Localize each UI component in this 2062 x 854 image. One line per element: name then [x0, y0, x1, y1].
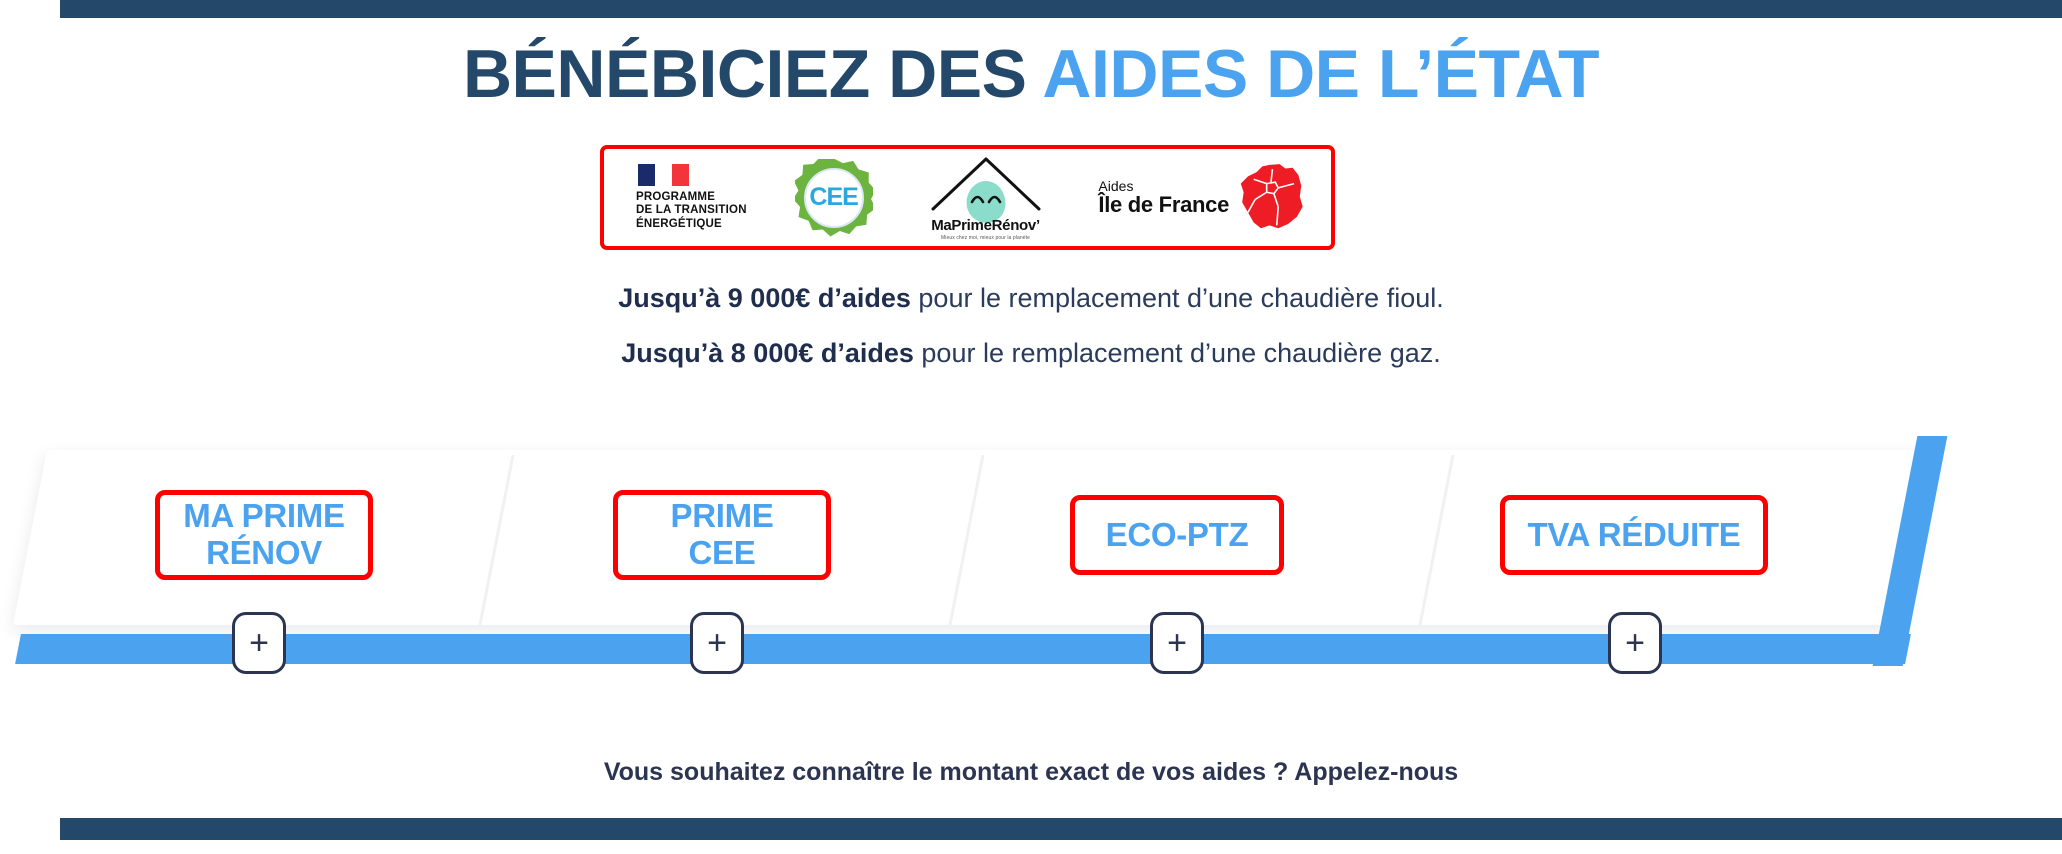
aid-card-tva-reduite[interactable]: TVA RÉDUITE — [1500, 495, 1768, 575]
plus-icon: + — [1625, 626, 1645, 660]
logo-idf-big: Île de France — [1098, 193, 1229, 216]
logo-maprimerenov-label: MaPrimeRénov’ — [931, 217, 1040, 234]
plus-icon: + — [1167, 626, 1187, 660]
expand-prime-cee-button[interactable]: + — [690, 612, 744, 674]
french-flag-icon — [638, 164, 689, 186]
aid-amount-2-bold: Jusqu’à 8 000€ d’aides — [621, 338, 914, 368]
aid-card-ma-prime-renov[interactable]: MA PRIME RÉNOV — [155, 490, 373, 580]
aid-card-3-line1: ECO-PTZ — [1106, 516, 1249, 553]
logo-cee-label: CEE — [809, 183, 857, 212]
expand-ma-prime-renov-button[interactable]: + — [232, 612, 286, 674]
logo-pte-line3: ÉNERGÉTIQUE — [636, 218, 747, 232]
cee-badge-inner: CEE — [804, 168, 864, 228]
page-title: BÉNÉBICIEZ DES AIDES DE L’ÉTAT — [0, 40, 2062, 108]
aid-amount-1-bold: Jusqu’à 9 000€ d’aides — [618, 283, 911, 313]
logo-maprimerenov: MaPrimeRénov’ Mieux chez moi, mieux pour… — [921, 155, 1051, 241]
page-title-dark-part: BÉNÉBICIEZ DES — [463, 36, 1042, 112]
expand-tva-reduite-button[interactable]: + — [1608, 612, 1662, 674]
aid-card-eco-ptz[interactable]: ECO-PTZ — [1070, 495, 1284, 575]
aid-amount-line-2: Jusqu’à 8 000€ d’aides pour le remplacem… — [0, 338, 2062, 369]
plus-icon: + — [707, 626, 727, 660]
plus-icon: + — [249, 626, 269, 660]
partner-logo-bar: PROGRAMME DE LA TRANSITION ÉNERGÉTIQUE C… — [600, 145, 1335, 250]
aid-card-prime-cee[interactable]: PRIME CEE — [613, 490, 831, 580]
logo-idf-text: Aides Île de France — [1098, 179, 1229, 217]
aid-card-2-line1: PRIME — [670, 497, 773, 534]
logo-programme-transition-energetique: PROGRAMME DE LA TRANSITION ÉNERGÉTIQUE — [628, 164, 747, 232]
page-title-blue-part: AIDES DE L’ÉTAT — [1042, 36, 1599, 112]
aid-amount-1-rest: pour le remplacement d’une chaudière fio… — [911, 283, 1444, 313]
ile-de-france-map-icon — [1235, 162, 1307, 234]
aid-card-4-line1: TVA RÉDUITE — [1527, 516, 1740, 553]
logo-idf-small: Aides — [1098, 179, 1229, 194]
logo-maprimerenov-tagline: Mieux chez moi, mieux pour la planète — [941, 235, 1030, 241]
logo-pte-text: PROGRAMME DE LA TRANSITION ÉNERGÉTIQUE — [636, 191, 747, 232]
logo-pte-line2: DE LA TRANSITION — [636, 204, 747, 218]
footer-question: Vous souhaitez connaître le montant exac… — [0, 758, 2062, 787]
aid-amount-line-1: Jusqu’à 9 000€ d’aides pour le remplacem… — [0, 283, 2062, 314]
smiling-eyes-icon — [970, 191, 1002, 205]
aid-card-1-line1: MA PRIME — [183, 497, 344, 534]
aid-amount-2-rest: pour le remplacement d’une chaudière gaz… — [914, 338, 1441, 368]
logo-cee: CEE — [795, 159, 873, 237]
logo-pte-line1: PROGRAMME — [636, 191, 747, 205]
expand-eco-ptz-button[interactable]: + — [1150, 612, 1204, 674]
aid-card-1-line2: RÉNOV — [206, 534, 322, 571]
aid-cards-panel: MA PRIME RÉNOV + PRIME CEE + ECO-PTZ + T… — [0, 450, 2062, 670]
bottom-navy-rule — [60, 818, 2062, 840]
logo-aides-ile-de-france: Aides Île de France — [1098, 162, 1307, 234]
top-navy-rule — [60, 0, 2062, 18]
aid-card-2-line2: CEE — [689, 534, 756, 571]
